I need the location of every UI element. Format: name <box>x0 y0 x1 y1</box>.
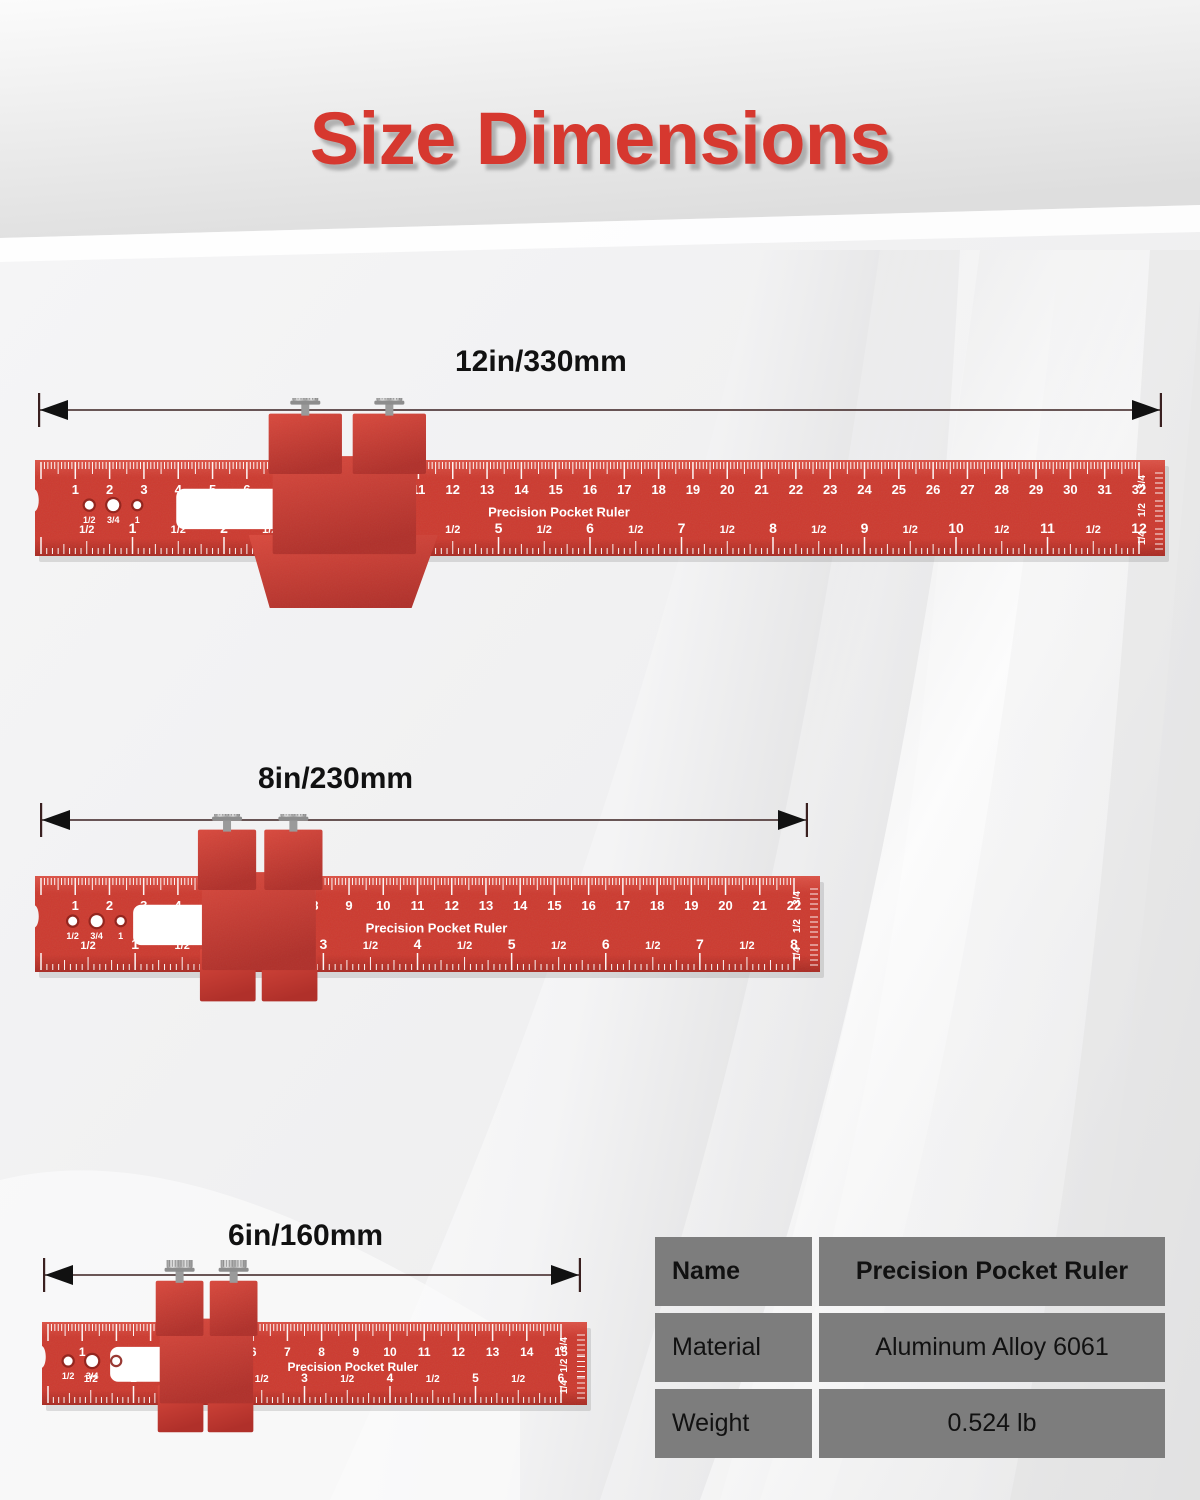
svg-text:1/2: 1/2 <box>340 1374 354 1385</box>
dimension-label-ruler-8in: 8in/230mm <box>258 762 413 796</box>
svg-text:9: 9 <box>352 1345 359 1359</box>
svg-text:14: 14 <box>514 482 529 497</box>
svg-text:3/4: 3/4 <box>792 891 803 905</box>
svg-text:1/2: 1/2 <box>83 515 96 525</box>
svg-text:1/2: 1/2 <box>811 524 826 536</box>
svg-text:1/2: 1/2 <box>66 931 79 941</box>
spec-row: MaterialAluminum Alloy 6061 <box>655 1313 1165 1382</box>
svg-text:15: 15 <box>548 482 562 497</box>
svg-text:Precision Pocket Ruler: Precision Pocket Ruler <box>488 505 630 520</box>
svg-text:13: 13 <box>480 482 494 497</box>
svg-text:1/2: 1/2 <box>739 940 754 952</box>
svg-text:1/2: 1/2 <box>511 1374 525 1385</box>
page-title: Size Dimensions <box>0 96 1200 181</box>
svg-text:1/2: 1/2 <box>445 524 460 536</box>
svg-text:1/2: 1/2 <box>792 919 803 933</box>
svg-text:5: 5 <box>495 520 503 536</box>
svg-text:10: 10 <box>948 520 964 536</box>
svg-text:3/4: 3/4 <box>107 515 120 525</box>
svg-text:30: 30 <box>1063 482 1077 497</box>
svg-text:1/2: 1/2 <box>80 940 95 952</box>
svg-text:3: 3 <box>319 936 327 952</box>
svg-text:1/2: 1/2 <box>363 940 378 952</box>
svg-text:16: 16 <box>583 482 597 497</box>
svg-text:1/2: 1/2 <box>559 1358 570 1372</box>
spec-key: Name <box>655 1237 812 1306</box>
svg-text:29: 29 <box>1029 482 1043 497</box>
svg-text:13: 13 <box>479 898 493 913</box>
svg-text:3/4: 3/4 <box>86 1371 99 1381</box>
svg-text:7: 7 <box>284 1345 291 1359</box>
svg-text:26: 26 <box>926 482 940 497</box>
svg-text:1/4: 1/4 <box>1137 531 1148 545</box>
svg-text:6: 6 <box>586 520 594 536</box>
svg-text:1/2: 1/2 <box>1137 503 1148 517</box>
spec-row: NamePrecision Pocket Ruler <box>655 1237 1165 1306</box>
ruler-12in: 1234567891011121314151617181920212223242… <box>35 398 1200 608</box>
svg-text:10: 10 <box>383 1345 397 1359</box>
svg-text:1/4: 1/4 <box>792 947 803 961</box>
spec-value: Precision Pocket Ruler <box>819 1237 1165 1306</box>
svg-text:2: 2 <box>106 898 113 913</box>
svg-text:19: 19 <box>686 482 700 497</box>
svg-text:1/2: 1/2 <box>457 940 472 952</box>
svg-text:2: 2 <box>106 482 113 497</box>
svg-text:1/2: 1/2 <box>645 940 660 952</box>
svg-text:7: 7 <box>696 936 704 952</box>
svg-text:1: 1 <box>72 482 79 497</box>
svg-text:13: 13 <box>486 1345 500 1359</box>
svg-text:23: 23 <box>823 482 837 497</box>
svg-text:25: 25 <box>892 482 906 497</box>
svg-text:1/2: 1/2 <box>994 524 1009 536</box>
dimension-label-ruler-6in: 6in/160mm <box>228 1219 383 1253</box>
svg-text:4: 4 <box>414 936 422 952</box>
svg-text:5: 5 <box>472 1371 479 1385</box>
spec-value: 0.524 lb <box>819 1389 1165 1458</box>
spec-value: Aluminum Alloy 6061 <box>819 1313 1165 1382</box>
svg-text:20: 20 <box>720 482 734 497</box>
svg-text:20: 20 <box>718 898 732 913</box>
spec-row: Weight0.524 lb <box>655 1389 1165 1458</box>
svg-text:17: 17 <box>617 482 631 497</box>
svg-text:8: 8 <box>769 520 777 536</box>
svg-text:11: 11 <box>418 1345 431 1359</box>
svg-text:3: 3 <box>140 482 147 497</box>
svg-text:1/2: 1/2 <box>720 524 735 536</box>
svg-text:3/4: 3/4 <box>90 931 103 941</box>
svg-text:Precision Pocket Ruler: Precision Pocket Ruler <box>366 921 508 936</box>
svg-text:17: 17 <box>616 898 630 913</box>
svg-text:8: 8 <box>318 1345 325 1359</box>
svg-text:11: 11 <box>1040 520 1055 536</box>
svg-text:14: 14 <box>520 1345 534 1359</box>
svg-text:15: 15 <box>547 898 561 913</box>
svg-text:3/4: 3/4 <box>1137 475 1148 489</box>
svg-text:14: 14 <box>513 898 528 913</box>
svg-text:18: 18 <box>651 482 665 497</box>
svg-text:1/4: 1/4 <box>559 1380 570 1394</box>
spec-key: Material <box>655 1313 812 1382</box>
svg-text:11: 11 <box>411 898 425 913</box>
svg-text:3/4: 3/4 <box>559 1337 570 1351</box>
svg-text:1/2: 1/2 <box>426 1374 440 1385</box>
spec-table: NamePrecision Pocket RulerMaterialAlumin… <box>655 1237 1165 1458</box>
svg-text:27: 27 <box>960 482 974 497</box>
dimension-label-ruler-12in: 12in/330mm <box>455 345 627 379</box>
ruler-8in: 123456789101112131415161718192021221/211… <box>35 814 860 1024</box>
spec-key: Weight <box>655 1389 812 1458</box>
svg-text:9: 9 <box>861 520 869 536</box>
svg-text:6: 6 <box>602 936 610 952</box>
svg-text:1/2: 1/2 <box>79 524 94 536</box>
svg-text:9: 9 <box>345 898 352 913</box>
svg-text:1/2: 1/2 <box>903 524 918 536</box>
svg-text:1: 1 <box>79 1345 86 1359</box>
svg-text:21: 21 <box>754 482 768 497</box>
svg-text:31: 31 <box>1097 482 1111 497</box>
svg-text:1/2: 1/2 <box>537 524 552 536</box>
svg-text:22: 22 <box>789 482 803 497</box>
svg-text:1: 1 <box>72 898 79 913</box>
svg-text:1/2: 1/2 <box>628 524 643 536</box>
svg-text:12: 12 <box>444 898 458 913</box>
svg-text:1/2: 1/2 <box>255 1374 269 1385</box>
svg-text:12: 12 <box>446 482 460 497</box>
svg-text:28: 28 <box>995 482 1009 497</box>
svg-text:16: 16 <box>581 898 595 913</box>
svg-text:7: 7 <box>678 520 686 536</box>
svg-text:24: 24 <box>857 482 872 497</box>
ruler-6in: 1234567891011121314151/211/221/231/241/2… <box>42 1260 627 1457</box>
svg-text:10: 10 <box>376 898 390 913</box>
svg-text:18: 18 <box>650 898 664 913</box>
svg-text:1: 1 <box>114 1371 119 1381</box>
svg-text:21: 21 <box>753 898 767 913</box>
svg-text:1/2: 1/2 <box>62 1371 75 1381</box>
svg-text:1: 1 <box>135 515 140 525</box>
svg-text:1/2: 1/2 <box>1086 524 1101 536</box>
svg-text:1: 1 <box>118 931 123 941</box>
svg-text:12: 12 <box>452 1345 466 1359</box>
svg-text:5: 5 <box>508 936 516 952</box>
svg-text:19: 19 <box>684 898 698 913</box>
svg-text:Precision Pocket Ruler: Precision Pocket Ruler <box>287 1360 418 1374</box>
svg-text:1/2: 1/2 <box>551 940 566 952</box>
